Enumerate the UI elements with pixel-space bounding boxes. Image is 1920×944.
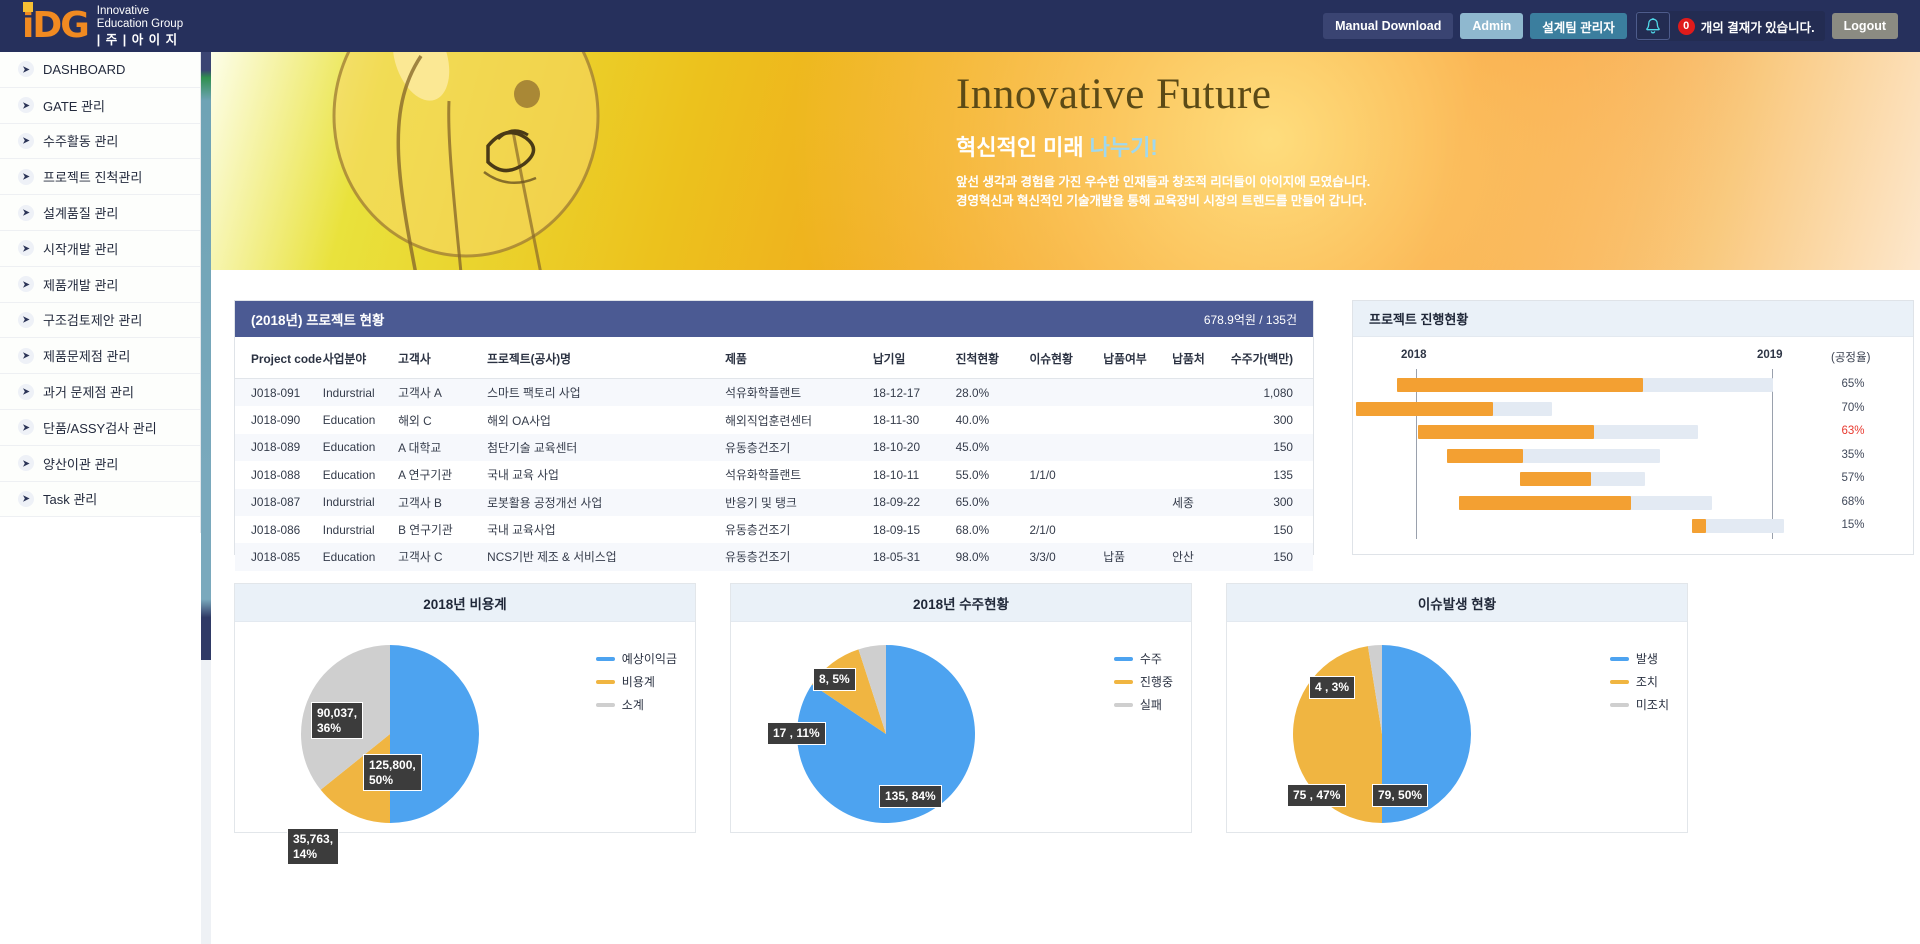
- legend-color-swatch: [1610, 657, 1629, 661]
- table-row[interactable]: J018-087Indurstrial고객사 B로봇활용 공정개선 사업반응기 …: [235, 489, 1313, 516]
- cell-due: 18-11-30: [873, 406, 956, 433]
- project-panel-header: (2018년) 프로젝트 현황 678.9억원 / 135건: [235, 301, 1313, 337]
- sidebar-item-label: 구조검토제안 관리: [43, 310, 142, 329]
- chevron-right-icon: [18, 61, 34, 77]
- legend-color-swatch: [596, 703, 615, 707]
- pie-data-label: 75 , 47%: [1287, 784, 1346, 807]
- banner-subheadline-accent: 나누기!: [1090, 135, 1158, 160]
- legend-item[interactable]: 발생: [1610, 650, 1669, 667]
- cell-field: Indurstrial: [323, 489, 398, 516]
- cost-pie-header: 2018년 비용계: [235, 584, 695, 622]
- chevron-right-icon: [18, 419, 34, 435]
- sidebar-item-label: Task 관리: [43, 489, 97, 508]
- gantt-row-7: [1692, 519, 1784, 533]
- cell-progress: 68.0%: [956, 516, 1030, 543]
- cell-issue: [1029, 406, 1103, 433]
- sidebar-item-label: 제품개발 관리: [43, 275, 118, 294]
- chevron-right-icon: [18, 312, 34, 328]
- gantt-bar-fill: [1459, 496, 1631, 510]
- legend-color-swatch: [1114, 657, 1133, 661]
- table-row[interactable]: J018-091Indurstrial고객사 A스마트 팩토리 사업석유화학플랜…: [235, 379, 1313, 407]
- legend-item[interactable]: 조치: [1610, 673, 1669, 690]
- gantt-bar-track: [1692, 519, 1784, 533]
- cell-field: Indurstrial: [323, 516, 398, 543]
- banner-description-line-2: 경영혁신과 혁신적인 기술개발을 통해 교육장비 시장의 트렌드를 만들어 갑니…: [956, 192, 1370, 211]
- cost-pie-panel: 2018년 비용계 125,800, 50%35,763, 14%90,037,…: [234, 583, 696, 833]
- gantt-progress-rate: 65%: [1829, 378, 1877, 390]
- sidebar-item-7[interactable]: 제품개발 관리: [0, 267, 200, 303]
- legend-label: 미조치: [1636, 696, 1669, 713]
- table-row[interactable]: J018-085Education고객사 CNCS기반 제조 & 서비스업유동층…: [235, 543, 1313, 570]
- cell-code: J018-091: [235, 379, 323, 407]
- gantt-gridline-2019: [1772, 369, 1773, 539]
- table-row[interactable]: J018-086IndurstrialB 연구기관국내 교육사업유동층건조기18…: [235, 516, 1313, 543]
- cell-product: 유동층건조기: [725, 434, 873, 461]
- sidebar-item-3[interactable]: 수주활동 관리: [0, 124, 200, 160]
- bell-icon[interactable]: [1636, 12, 1670, 40]
- pie-slice[interactable]: [390, 645, 479, 823]
- legend-item[interactable]: 실패: [1114, 696, 1173, 713]
- cell-due: 18-12-17: [873, 379, 956, 407]
- legend-item[interactable]: 진행중: [1114, 673, 1173, 690]
- banner-description: 앞선 생각과 경험을 가진 우수한 인재들과 창조적 리더들이 아이지에 모였습…: [956, 173, 1370, 212]
- gantt-gridline-2018: [1416, 369, 1417, 539]
- cell-issue: 1/1/0: [1029, 461, 1103, 488]
- cell-code: J018-088: [235, 461, 323, 488]
- legend-color-swatch: [1114, 680, 1133, 684]
- cell-code: J018-089: [235, 434, 323, 461]
- gantt-progress-rate: 63%: [1829, 425, 1877, 437]
- header-actions: Manual Download Admin 설계팀 관리자 0 개의 결재가 있…: [1323, 11, 1920, 41]
- chevron-right-icon: [18, 240, 34, 256]
- lightbulb-illustration: [251, 52, 681, 270]
- chevron-right-icon: [18, 97, 34, 113]
- top-header-bar: iDG Innovative Education Group | 주 | 아 이…: [0, 0, 1920, 52]
- gantt-row-2: [1356, 402, 1552, 416]
- sidebar-item-9[interactable]: 제품문제점 관리: [0, 338, 200, 374]
- gantt-bar-fill: [1520, 472, 1591, 486]
- sidebar-item-label: 양산이관 관리: [43, 454, 118, 473]
- gantt-progress-rate: 57%: [1829, 472, 1877, 484]
- gantt-panel-title: 프로젝트 진행현황: [1369, 309, 1468, 328]
- pie-data-label: 17 , 11%: [767, 722, 826, 745]
- cell-customer: 고객사 B: [398, 489, 487, 516]
- issue-pie-panel: 이슈발생 현황 79, 50%75 , 47%4 , 3%발생조치미조치: [1226, 583, 1688, 833]
- banner-subheadline: 혁신적인 미래 나누기!: [956, 130, 1370, 162]
- pie-data-label: 125,800, 50%: [363, 754, 422, 791]
- project-table-header-row: Project code사업분야고객사프로젝트(공사)명제품납기일진척현황이슈현…: [235, 337, 1313, 379]
- logout-button[interactable]: Logout: [1832, 13, 1898, 39]
- issue-pie-title: 이슈발생 현황: [1418, 593, 1496, 613]
- sidebar-item-label: 설계품질 관리: [43, 203, 118, 222]
- cell-delivered: [1103, 379, 1172, 407]
- sidebar-item-label: 단품/ASSY검사 관리: [43, 418, 157, 437]
- cell-delivered: [1103, 406, 1172, 433]
- sidebar-item-11[interactable]: 단품/ASSY검사 관리: [0, 410, 200, 446]
- cell-progress: 28.0%: [956, 379, 1030, 407]
- sidebar-item-12[interactable]: 양산이관 관리: [0, 446, 200, 482]
- project-panel-summary: 678.9억원 / 135건: [1204, 311, 1297, 328]
- cell-place: [1172, 434, 1231, 461]
- gantt-row-3: [1418, 425, 1698, 439]
- legend-label: 소계: [622, 696, 644, 713]
- sidebar-item-label: 프로젝트 진척관리: [43, 167, 142, 186]
- cell-code: J018-090: [235, 406, 323, 433]
- cell-product: 유동층건조기: [725, 516, 873, 543]
- pie-data-label: 8, 5%: [813, 668, 856, 691]
- cell-customer: B 연구기관: [398, 516, 487, 543]
- cell-progress: 45.0%: [956, 434, 1030, 461]
- cell-amount: 135: [1231, 461, 1313, 488]
- admin-button[interactable]: Admin: [1460, 13, 1523, 39]
- cell-project: 첨단기술 교육센터: [487, 434, 725, 461]
- legend-label: 진행중: [1140, 673, 1173, 690]
- legend-item[interactable]: 예상이익금: [596, 650, 677, 667]
- chevron-right-icon: [18, 205, 34, 221]
- chevron-right-icon: [18, 133, 34, 149]
- cell-product: 석유화학플랜트: [725, 461, 873, 488]
- legend-label: 비용계: [622, 673, 655, 690]
- cell-progress: 65.0%: [956, 489, 1030, 516]
- cell-issue: 3/3/0: [1029, 543, 1103, 570]
- column-header-10: 납품처: [1172, 337, 1231, 379]
- cell-field: Education: [323, 543, 398, 570]
- legend-color-swatch: [1114, 703, 1133, 707]
- legend-color-swatch: [596, 657, 615, 661]
- cost-pie-body: 125,800, 50%35,763, 14%90,037, 36%예상이익금비…: [235, 622, 695, 833]
- cell-customer: 고객사 A: [398, 379, 487, 407]
- gantt-bar-fill: [1418, 425, 1594, 439]
- cell-delivered: [1103, 516, 1172, 543]
- gantt-bar-fill: [1356, 402, 1493, 416]
- gantt-rate-header: (공정율): [1831, 349, 1870, 365]
- project-status-panel: (2018년) 프로젝트 현황 678.9억원 / 135건 Project c…: [234, 300, 1314, 555]
- cell-project: 국내 교육사업: [487, 516, 725, 543]
- sidebar-item-13[interactable]: Task 관리: [0, 482, 200, 518]
- gantt-row-5: [1520, 472, 1645, 486]
- gantt-progress-rate: 68%: [1829, 496, 1877, 508]
- issue-pie-body: 79, 50%75 , 47%4 , 3%발생조치미조치: [1227, 622, 1687, 833]
- column-header-8: 이슈현황: [1029, 337, 1103, 379]
- page-scrollbar-thumb[interactable]: [201, 52, 211, 660]
- cell-project: NCS기반 제조 & 서비스업: [487, 543, 725, 570]
- order-pie-panel: 2018년 수주현황 135, 84%17 , 11%8, 5%수주진행중실패: [730, 583, 1192, 833]
- cell-customer: 해외 C: [398, 406, 487, 433]
- notification-area[interactable]: 0 개의 결재가 있습니다.: [1636, 11, 1825, 41]
- cell-delivered: [1103, 434, 1172, 461]
- logo-line-2: Education Group: [97, 18, 183, 31]
- cell-amount: 150: [1231, 543, 1313, 570]
- cell-progress: 55.0%: [956, 461, 1030, 488]
- legend-color-swatch: [1610, 703, 1629, 707]
- table-row[interactable]: J018-089EducationA 대학교첨단기술 교육센터유동층건조기18-…: [235, 434, 1313, 461]
- gantt-axis-label-left: 2018: [1401, 349, 1427, 361]
- table-row[interactable]: J018-090Education해외 C해외 OA사업해외직업훈련센터18-1…: [235, 406, 1313, 433]
- cell-project: 스마트 팩토리 사업: [487, 379, 725, 407]
- project-table-body: J018-091Indurstrial고객사 A스마트 팩토리 사업석유화학플랜…: [235, 379, 1313, 571]
- issue-pie-header: 이슈발생 현황: [1227, 584, 1687, 622]
- sidebar-item-label: 과거 문제점 관리: [43, 382, 134, 401]
- cell-place: 세종: [1172, 489, 1231, 516]
- cell-due: 18-09-15: [873, 516, 956, 543]
- pie-legend: 발생조치미조치: [1610, 650, 1669, 719]
- column-header-7: 진척현황: [956, 337, 1030, 379]
- column-header-3: 고객사: [398, 337, 487, 379]
- sidebar-navigation: DASHBOARDGATE 관리수주활동 관리프로젝트 진척관리설계품질 관리시…: [0, 52, 201, 944]
- legend-item[interactable]: 미조치: [1610, 696, 1669, 713]
- order-pie-header: 2018년 수주현황: [731, 584, 1191, 622]
- cell-progress: 40.0%: [956, 406, 1030, 433]
- sidebar-item-6[interactable]: 시작개발 관리: [0, 231, 200, 267]
- chevron-right-icon: [18, 491, 34, 507]
- cell-place: [1172, 406, 1231, 433]
- cell-issue: 2/1/0: [1029, 516, 1103, 543]
- logo-mark-icon: iDG: [22, 8, 88, 44]
- banner-headline: Innovative Future: [956, 70, 1370, 119]
- cell-delivered: 납품: [1103, 543, 1172, 570]
- legend-item[interactable]: 비용계: [596, 673, 677, 690]
- column-header-11: 수주가(백만): [1231, 337, 1313, 379]
- cost-pie-title: 2018년 비용계: [423, 593, 506, 613]
- cell-customer: A 연구기관: [398, 461, 487, 488]
- cell-place: [1172, 516, 1231, 543]
- cell-product: 반응기 및 탱크: [725, 489, 873, 516]
- order-pie-body: 135, 84%17 , 11%8, 5%수주진행중실패: [731, 622, 1191, 833]
- order-pie-title: 2018년 수주현황: [913, 593, 1009, 613]
- legend-label: 예상이익금: [622, 650, 677, 667]
- gantt-bar-fill: [1692, 519, 1706, 533]
- legend-item[interactable]: 수주: [1114, 650, 1173, 667]
- column-header-5: 제품: [725, 337, 873, 379]
- cell-product: 석유화학플랜트: [725, 379, 873, 407]
- chevron-right-icon: [18, 455, 34, 471]
- legend-label: 조치: [1636, 673, 1658, 690]
- sidebar-item-label: 수주활동 관리: [43, 131, 118, 150]
- legend-color-swatch: [596, 680, 615, 684]
- pie-data-label: 135, 84%: [879, 785, 942, 808]
- cell-delivered: [1103, 461, 1172, 488]
- cell-project: 해외 OA사업: [487, 406, 725, 433]
- cell-amount: 1,080: [1231, 379, 1313, 407]
- cell-place: 안산: [1172, 543, 1231, 570]
- sidebar-item-4[interactable]: 프로젝트 진척관리: [0, 159, 200, 195]
- legend-label: 수주: [1140, 650, 1162, 667]
- sidebar-item-label: 제품문제점 관리: [43, 346, 130, 365]
- gantt-chart: 2018 2019 (공정율) 65%70%63%35%57%68%15%: [1353, 337, 1913, 555]
- gantt-progress-rate: 35%: [1829, 449, 1877, 461]
- sidebar-item-5[interactable]: 설계품질 관리: [0, 195, 200, 231]
- cell-project: 국내 교육 사업: [487, 461, 725, 488]
- gantt-progress-rate: 70%: [1829, 402, 1877, 414]
- banner-subheadline-main: 혁신적인 미래: [956, 135, 1090, 160]
- chevron-right-icon: [18, 348, 34, 364]
- cell-amount: 150: [1231, 516, 1313, 543]
- column-header-6: 납기일: [873, 337, 956, 379]
- sidebar-item-label: GATE 관리: [43, 96, 105, 115]
- gantt-row-6: [1459, 496, 1712, 510]
- notification-text: 개의 결재가 있습니다.: [1701, 17, 1815, 36]
- sidebar-item-8[interactable]: 구조검토제안 관리: [0, 303, 200, 339]
- gantt-axis-label-right: 2019: [1757, 349, 1783, 361]
- cell-due: 18-10-11: [873, 461, 956, 488]
- legend-item[interactable]: 소계: [596, 696, 677, 713]
- project-progress-panel: 프로젝트 진행현황 2018 2019 (공정율) 65%70%63%35%57…: [1352, 300, 1914, 555]
- cell-due: 18-05-31: [873, 543, 956, 570]
- company-logo[interactable]: iDG Innovative Education Group | 주 | 아 이…: [0, 5, 183, 47]
- manual-download-button[interactable]: Manual Download: [1323, 13, 1453, 39]
- cell-delivered: [1103, 489, 1172, 516]
- banner-description-line-1: 앞선 생각과 경험을 가진 우수한 인재들과 창조적 리더들이 아이지에 모였습…: [956, 173, 1370, 192]
- cell-due: 18-10-20: [873, 434, 956, 461]
- column-header-4: 프로젝트(공사)명: [487, 337, 725, 379]
- cell-code: J018-085: [235, 543, 323, 570]
- legend-color-swatch: [1610, 680, 1629, 684]
- cell-field: Education: [323, 406, 398, 433]
- pie-data-label: 79, 50%: [1372, 784, 1428, 807]
- pie-data-label: 4 , 3%: [1309, 676, 1355, 699]
- cell-product: 유동층건조기: [725, 543, 873, 570]
- sidebar-item-1[interactable]: DASHBOARD: [0, 52, 200, 88]
- pie-data-label: 35,763, 14%: [287, 828, 339, 865]
- chevron-right-icon: [18, 384, 34, 400]
- cell-field: Indurstrial: [323, 379, 398, 407]
- sidebar-item-10[interactable]: 과거 문제점 관리: [0, 374, 200, 410]
- column-header-1: Project code: [235, 337, 323, 379]
- pie-data-label: 90,037, 36%: [311, 702, 363, 739]
- sidebar-empty-space: [0, 533, 201, 944]
- column-header-9: 납품여부: [1103, 337, 1172, 379]
- cell-due: 18-09-22: [873, 489, 956, 516]
- cell-project: 로봇활용 공정개선 사업: [487, 489, 725, 516]
- project-panel-title: (2018년) 프로젝트 현황: [251, 309, 384, 329]
- cell-customer: A 대학교: [398, 434, 487, 461]
- cell-issue: [1029, 379, 1103, 407]
- gantt-progress-rate: 15%: [1829, 519, 1877, 531]
- cell-amount: 300: [1231, 406, 1313, 433]
- banner-text-block: Innovative Future 혁신적인 미래 나누기! 앞선 생각과 경험…: [956, 70, 1370, 212]
- sidebar-item-2[interactable]: GATE 관리: [0, 88, 200, 124]
- sidebar-item-label: DASHBOARD: [43, 62, 125, 77]
- logo-line-1: Innovative: [97, 5, 183, 18]
- table-row[interactable]: J018-088EducationA 연구기관국내 교육 사업석유화학플랜트18…: [235, 461, 1313, 488]
- gantt-panel-header: 프로젝트 진행현황: [1353, 301, 1913, 337]
- logo-line-3: | 주 | 아 이 지: [97, 33, 183, 47]
- gantt-row-1: [1397, 378, 1773, 392]
- cell-product: 해외직업훈련센터: [725, 406, 873, 433]
- legend-label: 발생: [1636, 650, 1658, 667]
- gantt-bar-fill: [1397, 378, 1643, 392]
- chevron-right-icon: [18, 169, 34, 185]
- cell-field: Education: [323, 461, 398, 488]
- hero-banner: Innovative Future 혁신적인 미래 나누기! 앞선 생각과 경험…: [211, 52, 1920, 270]
- chevron-right-icon: [18, 276, 34, 292]
- legend-label: 실패: [1140, 696, 1162, 713]
- pie-legend: 예상이익금비용계소계: [596, 650, 677, 719]
- logo-wordmark: Innovative Education Group | 주 | 아 이 지: [97, 5, 183, 47]
- gantt-row-4: [1447, 449, 1660, 463]
- cell-amount: 300: [1231, 489, 1313, 516]
- pie-legend: 수주진행중실패: [1114, 650, 1173, 719]
- column-header-2: 사업분야: [323, 337, 398, 379]
- cell-field: Education: [323, 434, 398, 461]
- cell-issue: [1029, 489, 1103, 516]
- notification-count-badge: 0: [1678, 18, 1695, 35]
- project-table: Project code사업분야고객사프로젝트(공사)명제품납기일진척현황이슈현…: [235, 337, 1313, 571]
- cell-amount: 150: [1231, 434, 1313, 461]
- cell-place: [1172, 379, 1231, 407]
- team-manager-button[interactable]: 설계팀 관리자: [1530, 13, 1626, 39]
- gantt-bar-fill: [1447, 449, 1523, 463]
- cell-place: [1172, 461, 1231, 488]
- cell-progress: 98.0%: [956, 543, 1030, 570]
- cell-customer: 고객사 C: [398, 543, 487, 570]
- cell-code: J018-087: [235, 489, 323, 516]
- sidebar-item-label: 시작개발 관리: [43, 239, 118, 258]
- cell-issue: [1029, 434, 1103, 461]
- pie-chart-svg: [275, 626, 505, 826]
- cell-code: J018-086: [235, 516, 323, 543]
